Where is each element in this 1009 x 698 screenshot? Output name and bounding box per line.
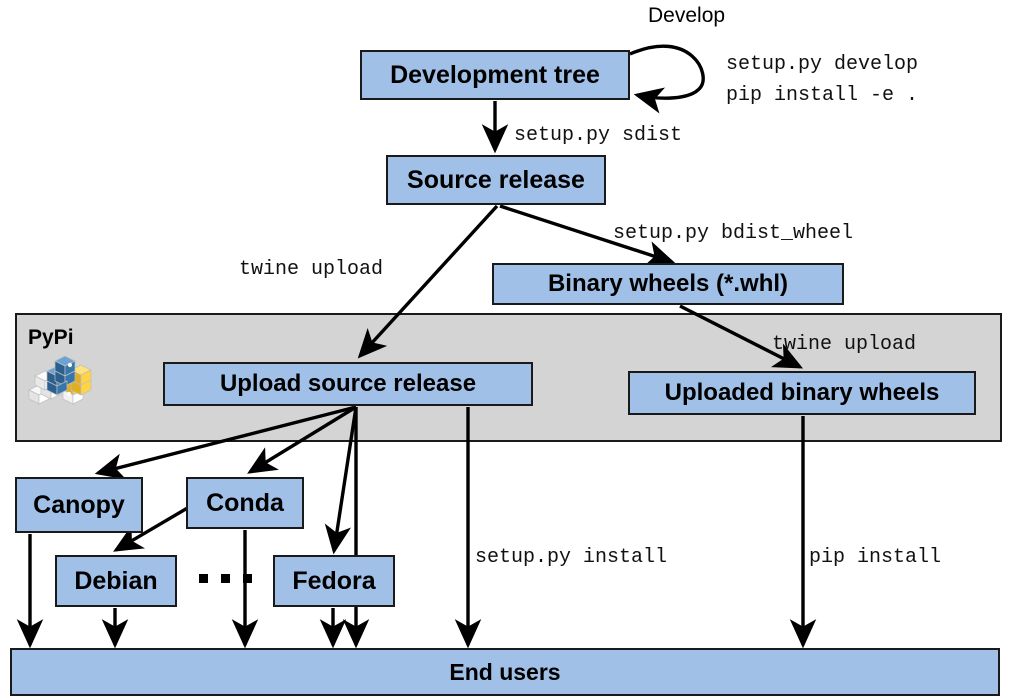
ellipsis-dot	[199, 574, 208, 583]
edge-label-twine-upload-whl: twine upload	[772, 332, 916, 357]
diagram-canvas: PyPi	[0, 0, 1009, 698]
node-development-tree: Development tree	[360, 50, 630, 100]
edge-label-twine-upload-src: twine upload	[239, 257, 383, 282]
edge-label-setup-sdist: setup.py sdist	[514, 123, 682, 148]
edge-label-pip-install: pip install	[809, 545, 941, 570]
node-label: Uploaded binary wheels	[665, 381, 940, 405]
edge-label-develop: Develop	[648, 4, 725, 28]
more-distros-ellipsis	[199, 574, 252, 583]
node-upload-source-release: Upload source release	[163, 362, 533, 406]
node-label: Conda	[206, 491, 284, 516]
node-end-users: End users	[10, 648, 1000, 696]
edge-develop-self-loop	[630, 46, 703, 98]
node-label: Fedora	[292, 569, 375, 594]
edge-label-setup-bdist: setup.py bdist_wheel	[613, 221, 853, 246]
edge-label-setup-install: setup.py install	[475, 545, 667, 570]
node-label: Canopy	[33, 493, 125, 518]
node-binary-wheels: Binary wheels (*.whl)	[492, 263, 844, 305]
node-label: Debian	[74, 569, 157, 594]
node-label: End users	[449, 661, 560, 684]
node-uploaded-binary-wheels: Uploaded binary wheels	[628, 371, 976, 415]
node-fedora: Fedora	[273, 555, 395, 607]
node-source-release: Source release	[386, 155, 606, 205]
node-label: Source release	[407, 168, 585, 193]
node-canopy: Canopy	[15, 477, 143, 533]
ellipsis-dot	[221, 574, 230, 583]
node-conda: Conda	[186, 477, 304, 529]
python-cubes-logo-svg	[27, 352, 93, 410]
node-label: Upload source release	[220, 372, 476, 396]
python-cubes-logo	[27, 352, 93, 410]
edge-label-pip-install-e: pip install -e .	[726, 83, 918, 108]
edge-label-setup-develop: setup.py develop	[726, 52, 918, 77]
node-debian: Debian	[55, 555, 177, 607]
pypi-panel-label: PyPi	[28, 326, 74, 350]
ellipsis-dot	[243, 574, 252, 583]
node-label: Development tree	[390, 63, 600, 88]
node-label: Binary wheels (*.whl)	[548, 272, 788, 296]
